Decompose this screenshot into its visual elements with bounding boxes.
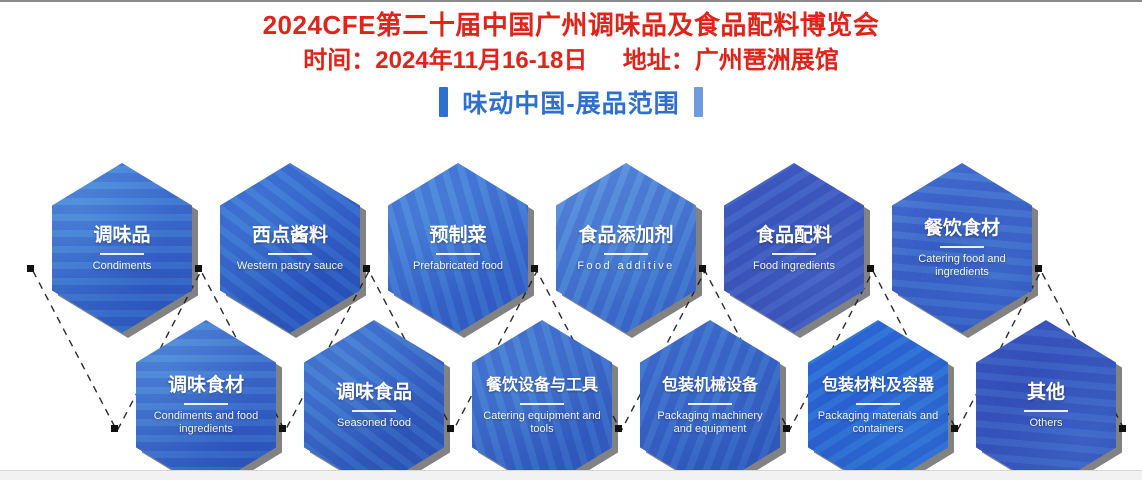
hex-tile-title-en: Prefabricated food — [413, 260, 503, 273]
hex-tile-title-cn: 西点酱料 — [252, 224, 328, 247]
hex-tile-divider — [352, 410, 396, 412]
hex-tile-title-cn: 调味品 — [93, 224, 150, 247]
hex-tile-divider — [520, 403, 564, 405]
hex-tile-title-en: Others — [1029, 417, 1062, 430]
hex-tile-title-cn: 其他 — [1027, 381, 1065, 404]
category-hex-bottom-3[interactable]: 餐饮设备与工具Catering equipment and tools — [472, 320, 612, 479]
hex-tile-texture — [136, 320, 276, 479]
category-hex-bottom-4[interactable]: 包装机械设备Packaging machinery and equipment — [640, 320, 780, 479]
category-hex-bottom-5[interactable]: 包装材料及容器Packaging materials and container… — [808, 320, 948, 479]
category-hex-bottom-6[interactable]: 其他Others — [976, 320, 1116, 479]
hex-tile-title-en: Packaging machinery and equipment — [648, 410, 772, 436]
exhibition-poster: 2024CFE第二十届中国广州调味品及食品配料博览会 时间：2024年11月16… — [0, 0, 1142, 479]
hex-tile-title-en: Condiments and food ingredients — [144, 410, 268, 436]
hex-tile-title-cn: 食品添加剂 — [578, 224, 673, 247]
hex-tile-title-en: Catering equipment and tools — [480, 410, 604, 436]
hex-tile-divider — [436, 253, 480, 255]
hex-tile-title-en: Food ingredients — [753, 260, 835, 273]
hex-tile-title-cn: 调味食材 — [168, 374, 244, 397]
hex-tile-title-en: Packaging materials and containers — [816, 410, 940, 436]
hex-tile-title-cn: 食品配料 — [756, 224, 832, 247]
hex-tile-divider — [184, 403, 228, 405]
hex-tile-divider — [268, 253, 312, 255]
category-hex-bottom-2[interactable]: 调味食品Seasoned food — [304, 320, 444, 479]
hex-tile-divider — [604, 253, 648, 255]
hex-tile-divider — [940, 246, 984, 248]
hex-tile-divider — [1024, 410, 1068, 412]
category-hex-grid: 调味品Condiments西点酱料Western pastry sauce预制菜… — [0, 0, 1142, 479]
hex-tile-title-en: Catering food and ingredients — [900, 253, 1024, 279]
hex-tile-divider — [688, 403, 732, 405]
hex-tile-title-en: Western pastry sauce — [237, 260, 343, 273]
hex-tile-title-en: Food additive — [577, 260, 674, 273]
hex-tile-title-en: Seasoned food — [337, 417, 411, 430]
hex-tile-title-cn: 包装机械设备 — [662, 374, 758, 397]
hex-tile-title-cn: 预制菜 — [429, 224, 486, 247]
hex-tile-divider — [100, 253, 144, 255]
hex-tile-title-cn: 餐饮食材 — [924, 217, 1000, 240]
hex-tile-texture — [808, 320, 948, 479]
hex-tile-texture — [640, 320, 780, 479]
category-hex-bottom-1[interactable]: 调味食材Condiments and food ingredients — [136, 320, 276, 479]
hex-tile-texture — [472, 320, 612, 479]
hex-tile-title-en: Condiments — [93, 260, 152, 273]
hex-tile-title-cn: 包装材料及容器 — [822, 374, 934, 397]
hex-tile-divider — [772, 253, 816, 255]
hex-tile-title-cn: 调味食品 — [336, 381, 412, 404]
hex-tile-title-cn: 餐饮设备与工具 — [486, 374, 598, 397]
hex-tile-divider — [856, 403, 900, 405]
